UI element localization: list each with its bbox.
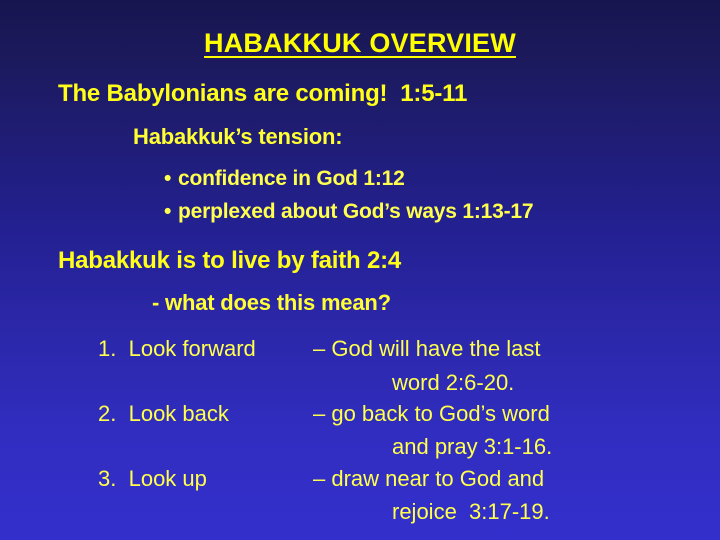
numbered-item-3-action: Look up — [129, 466, 207, 491]
numbered-item-1-label: 1. Look forward — [98, 336, 313, 362]
section-2-subheading: - what does this mean? — [152, 292, 391, 314]
numbered-item-3: 3. Look up– draw near to God and — [98, 466, 544, 492]
numbered-item-1-number: 1. — [98, 336, 116, 361]
section-1-heading: The Babylonians are coming! 1:5-11 — [58, 82, 467, 106]
bullet-dot-icon: • — [164, 201, 178, 222]
numbered-item-1: 1. Look forward– God will have the last — [98, 336, 540, 362]
numbered-item-3-description: – draw near to God and — [313, 466, 544, 492]
section-2-heading: Habakkuk is to live by faith 2:4 — [58, 249, 401, 273]
numbered-item-2-number: 2. — [98, 401, 116, 426]
bullet-item-2-text: perplexed about God’s ways 1:13-17 — [178, 200, 533, 223]
numbered-item-3-label: 3. Look up — [98, 466, 313, 492]
numbered-item-2-label: 2. Look back — [98, 401, 313, 427]
slide-title-text: HABAKKUK OVERVIEW — [204, 28, 516, 58]
numbered-item-1-description: – God will have the last — [313, 336, 540, 362]
bullet-item-2: •perplexed about God’s ways 1:13-17 — [164, 201, 533, 222]
numbered-item-3-number: 3. — [98, 466, 116, 491]
numbered-item-2-continuation: and pray 3:1-16. — [392, 434, 552, 460]
section-1-subheading: Habakkuk’s tension: — [133, 126, 342, 148]
presentation-slide: HABAKKUK OVERVIEW The Babylonians are co… — [0, 0, 720, 540]
numbered-item-1-action: Look forward — [129, 336, 256, 361]
bullet-item-1-text: confidence in God 1:12 — [178, 167, 405, 190]
numbered-item-1-continuation: word 2:6-20. — [392, 370, 514, 396]
slide-title: HABAKKUK OVERVIEW — [0, 30, 720, 57]
numbered-item-2-description: – go back to God’s word — [313, 401, 550, 427]
numbered-item-2-action: Look back — [129, 401, 229, 426]
bullet-item-1: •confidence in God 1:12 — [164, 168, 405, 189]
numbered-item-2: 2. Look back– go back to God’s word — [98, 401, 550, 427]
numbered-item-3-continuation: rejoice 3:17-19. — [392, 499, 550, 525]
bullet-dot-icon: • — [164, 168, 178, 189]
